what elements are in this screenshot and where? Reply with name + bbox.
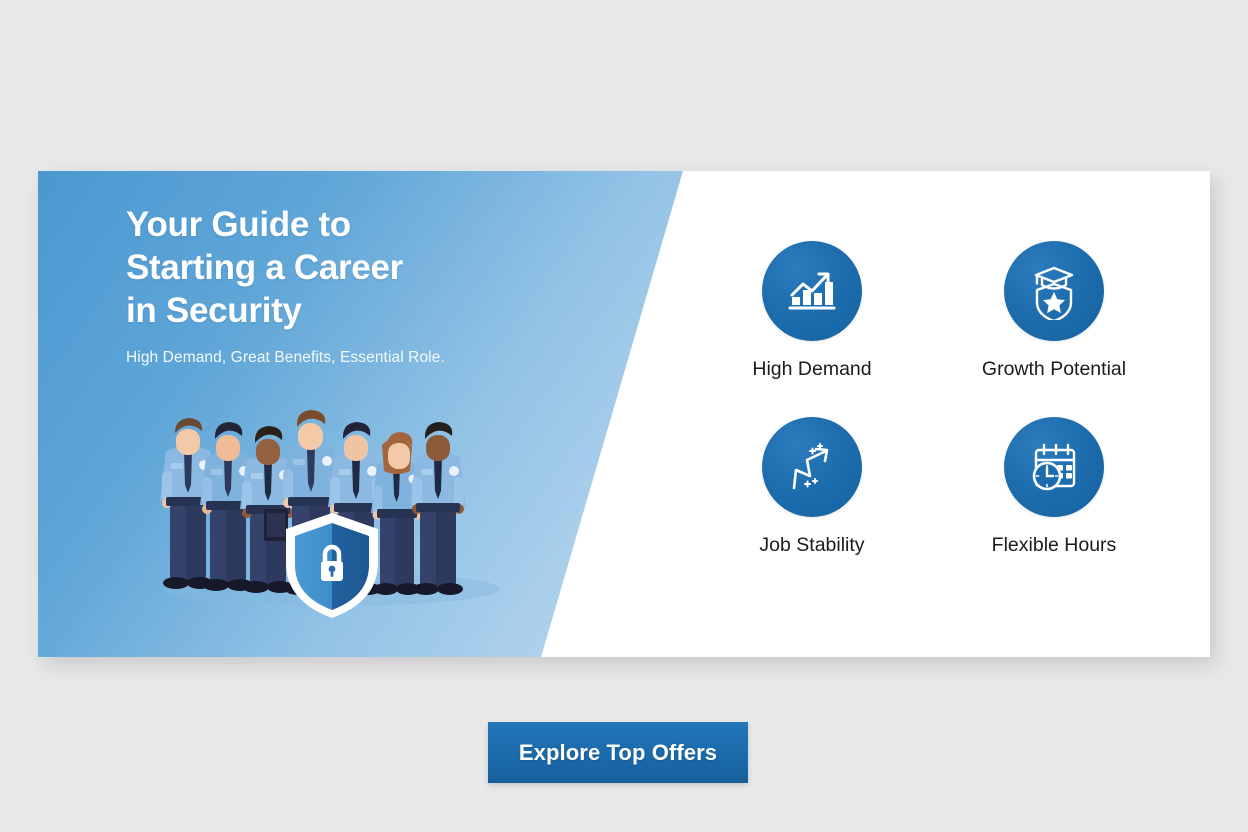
feature-growth-potential[interactable]: Growth Potential <box>940 241 1168 381</box>
bar-chart-growth-icon <box>762 241 862 341</box>
promo-banner-card: Your Guide to Starting a Career in Secur… <box>38 171 1210 657</box>
rising-arrow-sparkle-icon <box>762 417 862 517</box>
features-grid: High Demand Growth Potential <box>698 241 1168 557</box>
feature-label: Job Stability <box>759 534 864 557</box>
feature-label: Growth Potential <box>982 358 1126 381</box>
page-title: Your Guide to Starting a Career in Secur… <box>126 203 546 332</box>
security-guards-illustration <box>146 393 518 618</box>
explore-top-offers-button[interactable]: Explore Top Offers <box>488 722 748 783</box>
feature-label: Flexible Hours <box>992 534 1117 557</box>
calendar-clock-icon <box>1004 417 1104 517</box>
hero-subtitle: High Demand, Great Benefits, Essential R… <box>126 348 546 368</box>
graduation-cap-shield-star-icon <box>1004 241 1104 341</box>
feature-job-stability[interactable]: Job Stability <box>698 417 926 557</box>
feature-flexible-hours[interactable]: Flexible Hours <box>940 417 1168 557</box>
guard-figure <box>410 422 466 595</box>
feature-label: High Demand <box>752 358 871 381</box>
feature-high-demand[interactable]: High Demand <box>698 241 926 381</box>
hero-text-block: Your Guide to Starting a Career in Secur… <box>126 203 546 368</box>
